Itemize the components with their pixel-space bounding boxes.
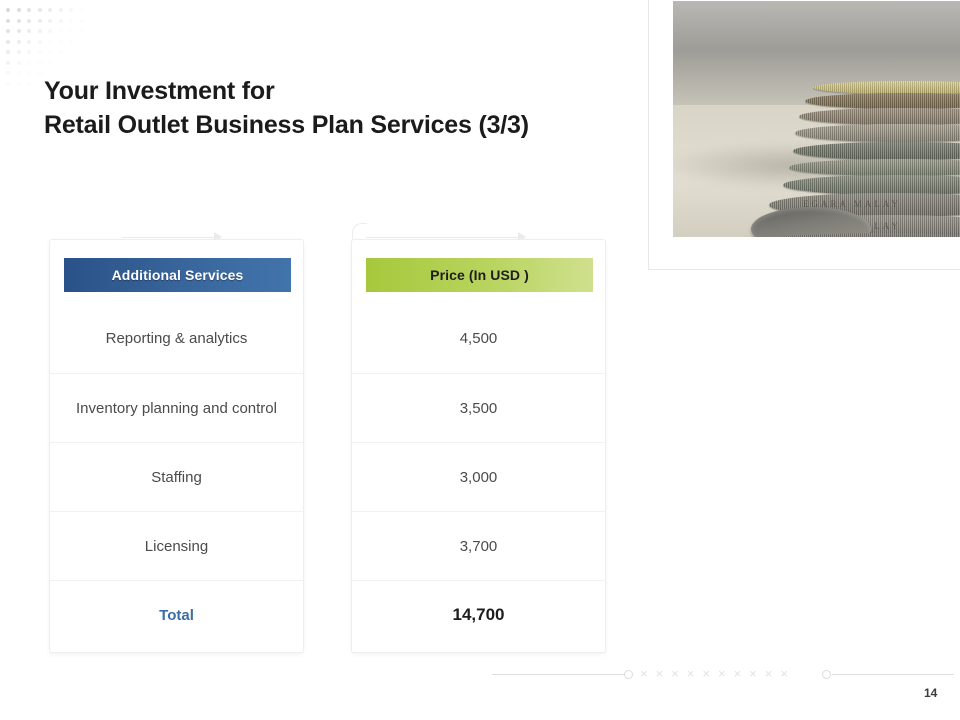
dot-grid-dot xyxy=(48,61,52,65)
deco-x-mark: × xyxy=(734,666,742,682)
dot-grid-dot xyxy=(59,8,63,12)
deco-x-mark: × xyxy=(656,666,664,682)
price-value-cell: 3,700 xyxy=(460,538,498,555)
deco-circle-left xyxy=(624,670,633,679)
deco-x-mark: × xyxy=(702,666,710,682)
table-row: 3,000 xyxy=(352,442,605,511)
deco-x-mark: × xyxy=(749,666,757,682)
dot-grid-dot xyxy=(69,29,73,33)
price-table-card: Price (In USD ) 4,5003,5003,0003,70014,7… xyxy=(351,239,606,653)
dot-grid-dot xyxy=(27,71,31,75)
table-row: Licensing xyxy=(50,511,303,580)
service-name-cell: Licensing xyxy=(145,538,208,555)
table-row: 3,700 xyxy=(352,511,605,580)
table-row: 4,500 xyxy=(352,304,605,373)
total-row: 14,700 xyxy=(352,580,605,649)
dot-grid-dot xyxy=(38,19,42,23)
dot-grid-dot xyxy=(38,71,42,75)
table-row: Staffing xyxy=(50,442,303,511)
dot-grid-dot xyxy=(6,50,10,54)
dot-grid-dot xyxy=(17,71,21,75)
dot-grid-dot xyxy=(48,19,52,23)
deco-circle-right xyxy=(822,670,831,679)
dot-grid-dot xyxy=(27,8,31,12)
deco-line-right xyxy=(832,674,954,675)
dot-grid-dot xyxy=(69,19,73,23)
dot-grid-dot xyxy=(27,19,31,23)
table-row: Inventory planning and control xyxy=(50,373,303,442)
deco-x-mark: × xyxy=(765,666,773,682)
dot-grid-dot xyxy=(17,29,21,33)
services-column-header: Additional Services xyxy=(64,258,291,292)
dot-grid-dot xyxy=(80,8,84,12)
page-title-line-1: Your Investment for xyxy=(44,74,624,108)
price-value-cell: 3,500 xyxy=(460,400,498,417)
price-column-header: Price (In USD ) xyxy=(366,258,593,292)
dot-grid-dot xyxy=(69,8,73,12)
dot-grid-dot xyxy=(38,61,42,65)
dot-grid-dot xyxy=(6,82,10,86)
total-row: Total xyxy=(50,580,303,649)
deco-x-mark: × xyxy=(718,666,726,682)
dot-grid-dot xyxy=(17,82,21,86)
dot-grid-dot xyxy=(6,61,10,65)
page-number: 14 xyxy=(924,686,937,700)
services-table-card: Additional Services Reporting & analytic… xyxy=(49,239,304,653)
dot-grid-dot xyxy=(59,19,63,23)
photo-frame: EGARA MALAY EGARA MALAY xyxy=(648,0,960,270)
dot-grid-dot xyxy=(48,29,52,33)
dot-grid-dot xyxy=(38,8,42,12)
dot-grid-dot xyxy=(48,8,52,12)
dot-grid-dot xyxy=(17,50,21,54)
dot-grid-dot xyxy=(69,40,73,44)
dot-grid-dot xyxy=(48,50,52,54)
dot-grid-dot xyxy=(6,71,10,75)
price-value-cell: 4,500 xyxy=(460,330,498,347)
dot-grid-dot xyxy=(27,61,31,65)
service-name-cell: Inventory planning and control xyxy=(76,400,277,417)
dot-grid-dot xyxy=(59,29,63,33)
table-row: 3,500 xyxy=(352,373,605,442)
dot-grid-dot xyxy=(17,40,21,44)
deco-x-mark: × xyxy=(671,666,679,682)
price-rows: 4,5003,5003,0003,70014,700 xyxy=(352,304,605,649)
dot-grid-dot xyxy=(27,82,31,86)
price-value-cell: 3,000 xyxy=(460,469,498,486)
total-value: 14,700 xyxy=(453,605,505,625)
coins-photo: EGARA MALAY EGARA MALAY xyxy=(673,1,960,237)
dot-grid-dot xyxy=(59,50,63,54)
service-name-cell: Staffing xyxy=(151,469,202,486)
deco-x-marks: ×××××××××× xyxy=(640,666,788,682)
deco-x-mark: × xyxy=(640,666,648,682)
dot-grid-dot xyxy=(6,40,10,44)
bottom-decoration: ×××××××××× xyxy=(492,666,954,682)
dot-grid-dot xyxy=(80,29,84,33)
page-title: Your Investment for Retail Outlet Busine… xyxy=(44,74,624,142)
services-column-header-label: Additional Services xyxy=(112,267,244,283)
deco-line-left xyxy=(492,674,624,675)
dot-grid-dot xyxy=(48,40,52,44)
dot-grid-dot xyxy=(27,40,31,44)
dot-grid-dot xyxy=(38,50,42,54)
dot-grid-dot xyxy=(6,29,10,33)
table-row: Reporting & analytics xyxy=(50,304,303,373)
dot-grid-dot xyxy=(17,8,21,12)
dot-grid-dot xyxy=(27,29,31,33)
dot-grid-dot xyxy=(27,50,31,54)
deco-x-mark: × xyxy=(780,666,788,682)
dot-grid-dot xyxy=(80,19,84,23)
dot-grid-dot xyxy=(38,29,42,33)
service-name-cell: Reporting & analytics xyxy=(106,330,248,347)
deco-x-mark: × xyxy=(687,666,695,682)
dot-grid-dot xyxy=(6,19,10,23)
dot-grid-dot xyxy=(38,40,42,44)
dot-grid-dot xyxy=(17,61,21,65)
services-rows: Reporting & analyticsInventory planning … xyxy=(50,304,303,649)
price-column-header-label: Price (In USD ) xyxy=(430,267,529,283)
dot-grid-dot xyxy=(17,19,21,23)
dot-grid-dot xyxy=(59,40,63,44)
dot-grid-dot xyxy=(6,8,10,12)
total-label: Total xyxy=(159,607,194,624)
page-title-line-2: Retail Outlet Business Plan Services (3/… xyxy=(44,108,624,142)
